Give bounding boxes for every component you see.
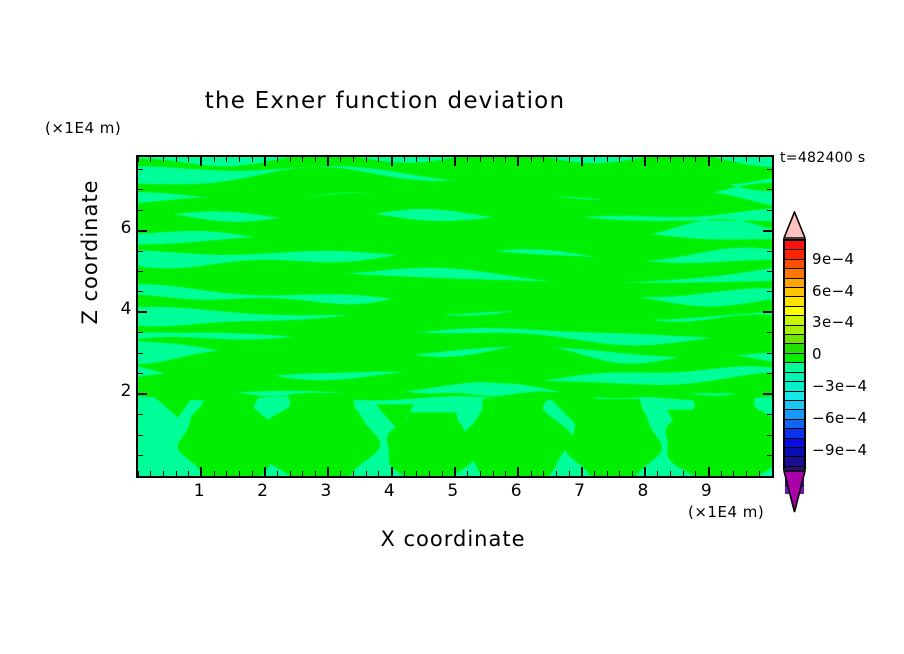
x-tick-label: 2 <box>248 481 278 501</box>
tick <box>391 467 393 476</box>
tick <box>517 157 519 166</box>
tick <box>163 471 164 476</box>
tick <box>138 353 143 354</box>
colorbar-tick-label: −3e−4 <box>812 377 867 395</box>
tick <box>767 291 772 292</box>
tick <box>632 471 633 476</box>
tick <box>763 393 772 395</box>
colorbar-band <box>785 429 804 437</box>
tick <box>252 157 253 162</box>
tick <box>239 471 240 476</box>
tick <box>644 467 646 476</box>
x-tick-label: 3 <box>311 481 341 501</box>
tick <box>454 157 456 166</box>
tick <box>226 471 227 476</box>
tick <box>150 471 151 476</box>
tick <box>517 467 519 476</box>
tick <box>366 157 367 162</box>
colorbar-band <box>785 288 804 296</box>
tick <box>721 157 722 162</box>
tick <box>138 291 143 292</box>
tick <box>429 157 430 162</box>
tick <box>378 471 379 476</box>
x-tick-label: 9 <box>692 481 722 501</box>
tick <box>366 471 367 476</box>
tick <box>138 189 143 190</box>
tick <box>138 332 143 333</box>
colorbar-band <box>785 401 804 409</box>
tick <box>767 353 772 354</box>
tick <box>290 157 291 162</box>
tick <box>302 471 303 476</box>
tick <box>695 471 696 476</box>
tick <box>315 157 316 162</box>
x-tick-label: 5 <box>438 481 468 501</box>
tick <box>767 169 772 170</box>
tick <box>200 467 202 476</box>
tick <box>581 157 583 166</box>
tick <box>176 157 177 162</box>
tick <box>138 251 143 252</box>
tick <box>163 157 164 162</box>
contour-field-canvas <box>138 157 772 476</box>
colorbar-band <box>785 420 804 428</box>
x-tick-label: 8 <box>628 481 658 501</box>
tick <box>138 393 147 395</box>
tick <box>277 157 278 162</box>
tick <box>746 157 747 162</box>
tick <box>683 157 684 162</box>
tick <box>619 157 620 162</box>
tick <box>454 467 456 476</box>
colorbar-band <box>785 382 804 390</box>
tick <box>302 157 303 162</box>
tick <box>746 471 747 476</box>
tick <box>239 157 240 162</box>
tick <box>543 471 544 476</box>
tick <box>315 471 316 476</box>
tick <box>670 471 671 476</box>
tick <box>594 157 595 162</box>
x-axis-title: X coordinate <box>136 527 770 551</box>
tick <box>531 471 532 476</box>
colorbar-band <box>785 457 804 465</box>
contour-plot-area <box>136 155 774 478</box>
colorbar-band <box>785 344 804 352</box>
tick <box>138 230 147 232</box>
tick <box>556 471 557 476</box>
tick <box>721 471 722 476</box>
colorbar-band <box>785 448 804 456</box>
colorbar-band <box>785 373 804 381</box>
tick <box>569 471 570 476</box>
tick <box>763 311 772 313</box>
tick <box>767 251 772 252</box>
colorbar-band <box>785 439 804 447</box>
colorbar-under-range-arrow <box>783 470 806 513</box>
tick <box>138 455 143 456</box>
tick <box>708 467 710 476</box>
tick <box>581 467 583 476</box>
tick <box>391 157 393 166</box>
tick <box>480 157 481 162</box>
tick <box>416 157 417 162</box>
tick <box>404 157 405 162</box>
tick <box>290 471 291 476</box>
colorbar-tick-label: −6e−4 <box>812 409 867 427</box>
y-tick-label: 4 <box>98 299 132 319</box>
tick <box>670 157 671 162</box>
tick <box>767 414 772 415</box>
timestamp-annotation: t=482400 s <box>780 150 865 166</box>
tick <box>429 471 430 476</box>
colorbar-band <box>785 326 804 334</box>
tick <box>767 189 772 190</box>
tick <box>378 157 379 162</box>
tick <box>404 471 405 476</box>
tick <box>733 471 734 476</box>
tick <box>543 157 544 162</box>
tick <box>556 157 557 162</box>
colorbar-over-range-arrow <box>783 211 806 239</box>
tick <box>176 471 177 476</box>
tick <box>138 311 147 313</box>
colorbar-band <box>785 250 804 258</box>
colorbar-band <box>785 297 804 305</box>
colorbar-band <box>785 316 804 324</box>
tick <box>683 471 684 476</box>
colorbar-band <box>785 363 804 371</box>
colorbar-band <box>785 279 804 287</box>
tick <box>767 435 772 436</box>
tick <box>150 157 151 162</box>
tick <box>493 157 494 162</box>
tick <box>759 471 760 476</box>
tick <box>708 157 710 166</box>
tick <box>644 157 646 166</box>
colorbar-tick-label: 9e−4 <box>812 250 854 268</box>
tick <box>619 471 620 476</box>
tick <box>767 271 772 272</box>
tick <box>759 157 760 162</box>
colorbar-tick-label: 6e−4 <box>812 282 854 300</box>
tick <box>772 157 773 162</box>
tick <box>657 471 658 476</box>
tick <box>733 157 734 162</box>
tick <box>467 471 468 476</box>
y-tick-label: 2 <box>98 381 132 401</box>
y-axis-title: Z coordinate <box>78 102 102 402</box>
tick <box>767 455 772 456</box>
tick <box>138 373 143 374</box>
tick <box>493 471 494 476</box>
tick <box>214 157 215 162</box>
tick <box>467 157 468 162</box>
tick <box>138 169 143 170</box>
tick <box>188 471 189 476</box>
tick <box>767 210 772 211</box>
tick <box>138 157 139 162</box>
tick <box>767 373 772 374</box>
tick <box>138 435 143 436</box>
page-title: the Exner function deviation <box>0 88 770 114</box>
tick <box>264 157 266 166</box>
tick <box>138 271 143 272</box>
tick <box>138 210 143 211</box>
colorbar-band <box>785 260 804 268</box>
tick <box>767 476 772 477</box>
colorbar-tick-label: 0 <box>812 345 822 363</box>
tick <box>353 471 354 476</box>
tick <box>340 471 341 476</box>
tick <box>252 471 253 476</box>
y-tick-label: 6 <box>98 218 132 238</box>
x-tick-label: 1 <box>184 481 214 501</box>
colorbar-band <box>785 269 804 277</box>
tick <box>214 471 215 476</box>
tick <box>188 157 189 162</box>
colorbar-band <box>785 354 804 362</box>
tick <box>531 157 532 162</box>
tick <box>569 157 570 162</box>
tick <box>277 471 278 476</box>
tick <box>442 157 443 162</box>
x-tick-label: 6 <box>501 481 531 501</box>
tick <box>226 157 227 162</box>
colorbar-tick-label: −9e−4 <box>812 441 867 459</box>
x-tick-label: 4 <box>375 481 405 501</box>
tick <box>138 414 143 415</box>
tick <box>480 471 481 476</box>
tick <box>200 157 202 166</box>
horizontal-axis-unit-label: (×1E4 m) <box>688 503 764 521</box>
colorbar-band <box>785 392 804 400</box>
x-tick-label: 7 <box>565 481 595 501</box>
colorbar-band <box>785 241 804 249</box>
colorbar-tick-label: 3e−4 <box>812 313 854 331</box>
tick <box>442 471 443 476</box>
colorbar-band <box>785 307 804 315</box>
tick <box>505 157 506 162</box>
tick <box>327 157 329 166</box>
colorbar <box>783 239 806 470</box>
colorbar-band <box>785 410 804 418</box>
tick <box>632 157 633 162</box>
tick <box>353 157 354 162</box>
colorbar-band <box>785 335 804 343</box>
tick <box>695 157 696 162</box>
tick <box>505 471 506 476</box>
tick <box>138 476 143 477</box>
tick <box>607 471 608 476</box>
tick <box>657 157 658 162</box>
tick <box>416 471 417 476</box>
tick <box>607 157 608 162</box>
tick <box>264 467 266 476</box>
tick <box>594 471 595 476</box>
tick <box>767 332 772 333</box>
tick <box>340 157 341 162</box>
tick <box>763 230 772 232</box>
tick <box>327 467 329 476</box>
